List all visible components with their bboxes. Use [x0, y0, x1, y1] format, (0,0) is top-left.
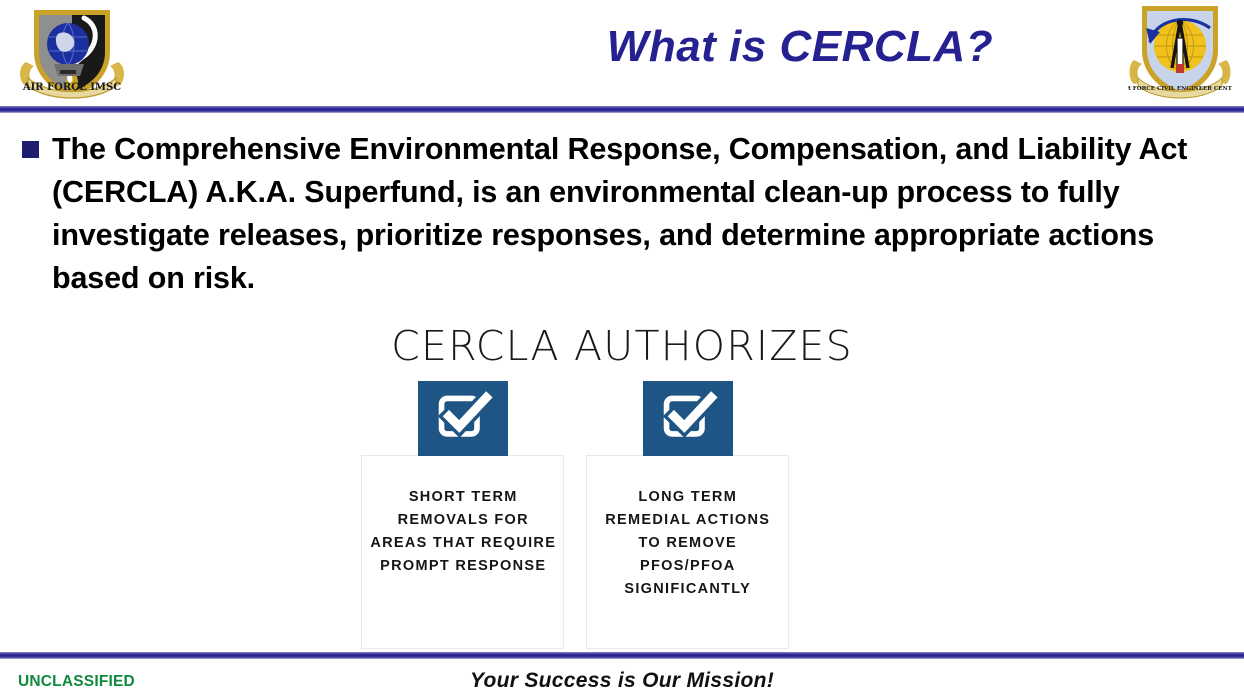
bullet-text: The Comprehensive Environmental Response…: [52, 128, 1232, 300]
footer-tagline: Your Success is Our Mission!: [0, 669, 1244, 693]
seal-caption-left: AIR FORCE IMSC: [22, 82, 121, 93]
infographic-cards: SHORT TERM REMOVALS FOR AREAS THAT REQUI…: [361, 381, 790, 651]
slide-canvas: AIR FORCE IMSC What is CERCLA?: [0, 0, 1244, 700]
air-force-imsc-seal-icon: AIR FORCE IMSC: [14, 4, 130, 102]
slide-header: AIR FORCE IMSC What is CERCLA?: [0, 0, 1244, 108]
footer-divider: [0, 652, 1244, 659]
air-force-civil-engineer-center-seal-icon: AIR FORCE CIVIL ENGINEER CENTER: [1128, 2, 1232, 102]
checkbox-checked-icon: [643, 381, 733, 456]
card-short-term: SHORT TERM REMOVALS FOR AREAS THAT REQUI…: [361, 381, 566, 651]
page-title: What is CERCLA?: [500, 22, 1100, 72]
card-label: SHORT TERM REMOVALS FOR AREAS THAT REQUI…: [369, 486, 558, 578]
card-label: LONG TERM REMEDIAL ACTIONS TO REMOVE PFO…: [594, 486, 783, 601]
bullet-item: The Comprehensive Environmental Response…: [22, 128, 1232, 300]
card-long-term: LONG TERM REMEDIAL ACTIONS TO REMOVE PFO…: [586, 381, 791, 651]
slide-footer: UNCLASSIFIED Your Success is Our Mission…: [0, 659, 1244, 700]
bullet-square-icon: [22, 141, 39, 158]
checkbox-checked-icon: [418, 381, 508, 456]
header-divider: [0, 106, 1244, 113]
seal-caption-right: AIR FORCE CIVIL ENGINEER CENTER: [1128, 86, 1232, 92]
infographic-heading: CERCLA AUTHORIZES: [0, 322, 1244, 370]
bullet-block: The Comprehensive Environmental Response…: [22, 128, 1232, 300]
